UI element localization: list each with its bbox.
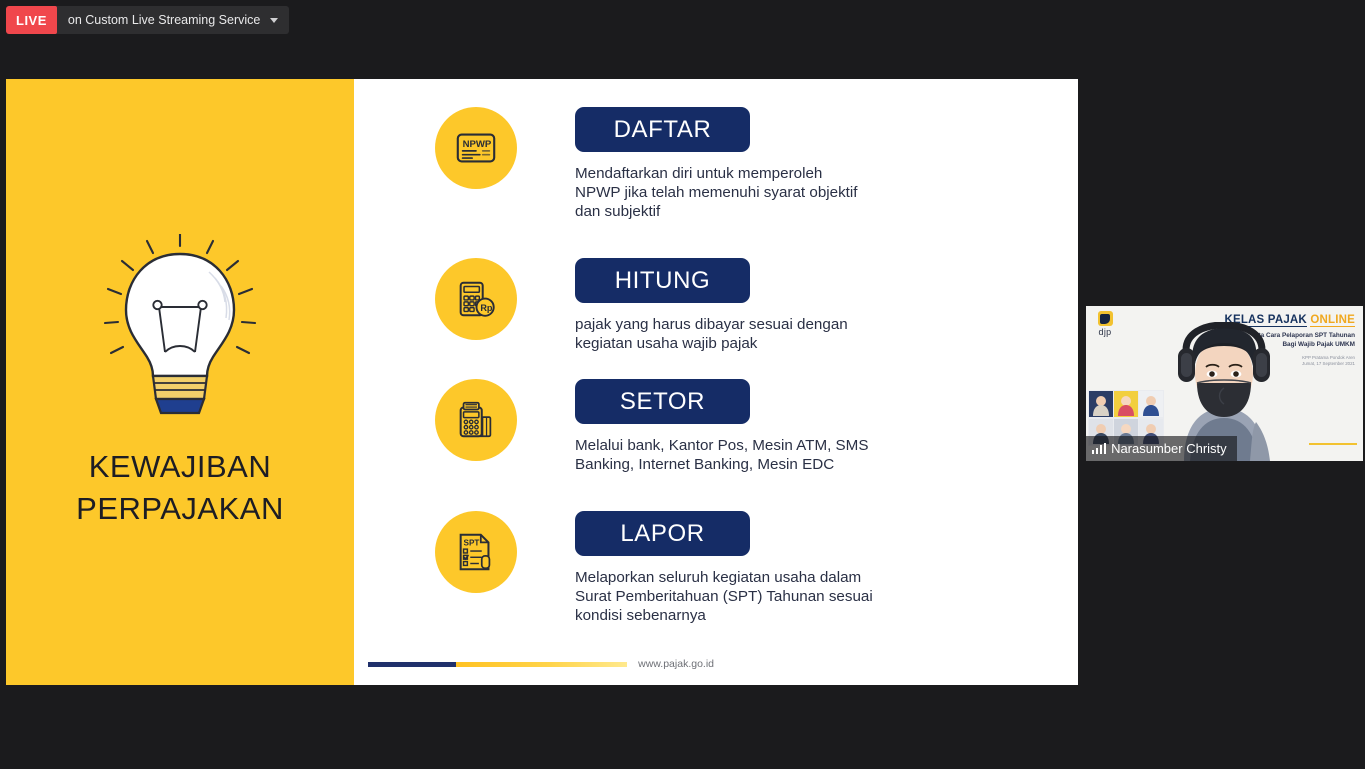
svg-text:Rp: Rp [480, 303, 493, 313]
participant-name-text: Narasumber Christy [1111, 441, 1227, 456]
step-label-hitung[interactable]: HITUNG [575, 258, 750, 303]
step-row-hitung: Rp HITUNG pajak yang harus dibayar sesua… [354, 258, 848, 354]
footer-url: www.pajak.go.id [638, 658, 714, 670]
step-body-setor: SETOR Melalui bank, Kantor Pos, Mesin AT… [575, 379, 868, 475]
live-status-bar[interactable]: LIVE on Custom Live Streaming Service [6, 6, 289, 34]
page-title: KEWAJIBAN PERPAJAKAN [76, 446, 284, 530]
video-tile-speaker[interactable]: djp KELAS PAJAK ONLINE Tata Cara Pelapor… [1086, 306, 1363, 461]
footer-bar-navy [368, 662, 456, 667]
step-desc-hitung: pajak yang harus dibayar sesuai dengan k… [575, 316, 848, 354]
live-service-label: on Custom Live Streaming Service [57, 6, 268, 34]
step-desc-daftar: Mendaftarkan diri untuk memperoleh NPWP … [575, 165, 858, 222]
slide-footer: www.pajak.go.id [368, 655, 714, 673]
lightbulb-illustration [93, 234, 268, 424]
footer-bar [368, 662, 627, 667]
slide-right-panel: NPWP DAFTAR Mendaftarkan diri untuk memp… [354, 79, 1078, 685]
chevron-down-icon[interactable] [268, 6, 289, 34]
signal-bars-icon [1092, 443, 1106, 454]
svg-text:SPT: SPT [464, 538, 480, 547]
step-body-lapor: LAPOR Melaporkan seluruh kegiatan usaha … [575, 511, 873, 626]
page-title-line1: KEWAJIBAN [76, 446, 284, 488]
step-desc-setor: Melalui bank, Kantor Pos, Mesin ATM, SMS… [575, 437, 868, 475]
step-body-daftar: DAFTAR Mendaftarkan diri untuk memperole… [575, 107, 858, 222]
page-title-line2: PERPAJAKAN [76, 488, 284, 530]
djp-logo-label: djp [1094, 327, 1116, 337]
step-row-daftar: NPWP DAFTAR Mendaftarkan diri untuk memp… [354, 107, 858, 222]
djp-logo-icon: djp [1094, 311, 1116, 337]
video-headline-accent: ONLINE [1310, 314, 1355, 327]
svg-text:NPWP: NPWP [463, 139, 492, 150]
live-badge: LIVE [6, 6, 57, 34]
spt-document-icon: SPT [435, 511, 517, 593]
step-row-lapor: SPT LAPOR [354, 511, 873, 626]
shared-slide: KEWAJIBAN PERPAJAKAN NPWP [6, 79, 1078, 685]
screen-root: LIVE on Custom Live Streaming Service [0, 0, 1365, 769]
step-label-setor[interactable]: SETOR [575, 379, 750, 424]
video-footer-accent [1309, 443, 1357, 445]
step-label-daftar[interactable]: DAFTAR [575, 107, 750, 152]
footer-bar-gold [456, 662, 627, 667]
step-label-lapor[interactable]: LAPOR [575, 511, 750, 556]
participant-name-label: Narasumber Christy [1086, 436, 1237, 461]
slide-left-panel: KEWAJIBAN PERPAJAKAN [6, 79, 354, 685]
step-row-setor: SETOR Melalui bank, Kantor Pos, Mesin AT… [354, 379, 868, 475]
calculator-rupiah-icon: Rp [435, 258, 517, 340]
edc-terminal-icon [435, 379, 517, 461]
step-desc-lapor: Melaporkan seluruh kegiatan usaha dalam … [575, 569, 873, 626]
step-body-hitung: HITUNG pajak yang harus dibayar sesuai d… [575, 258, 848, 354]
npwp-card-icon: NPWP [435, 107, 517, 189]
